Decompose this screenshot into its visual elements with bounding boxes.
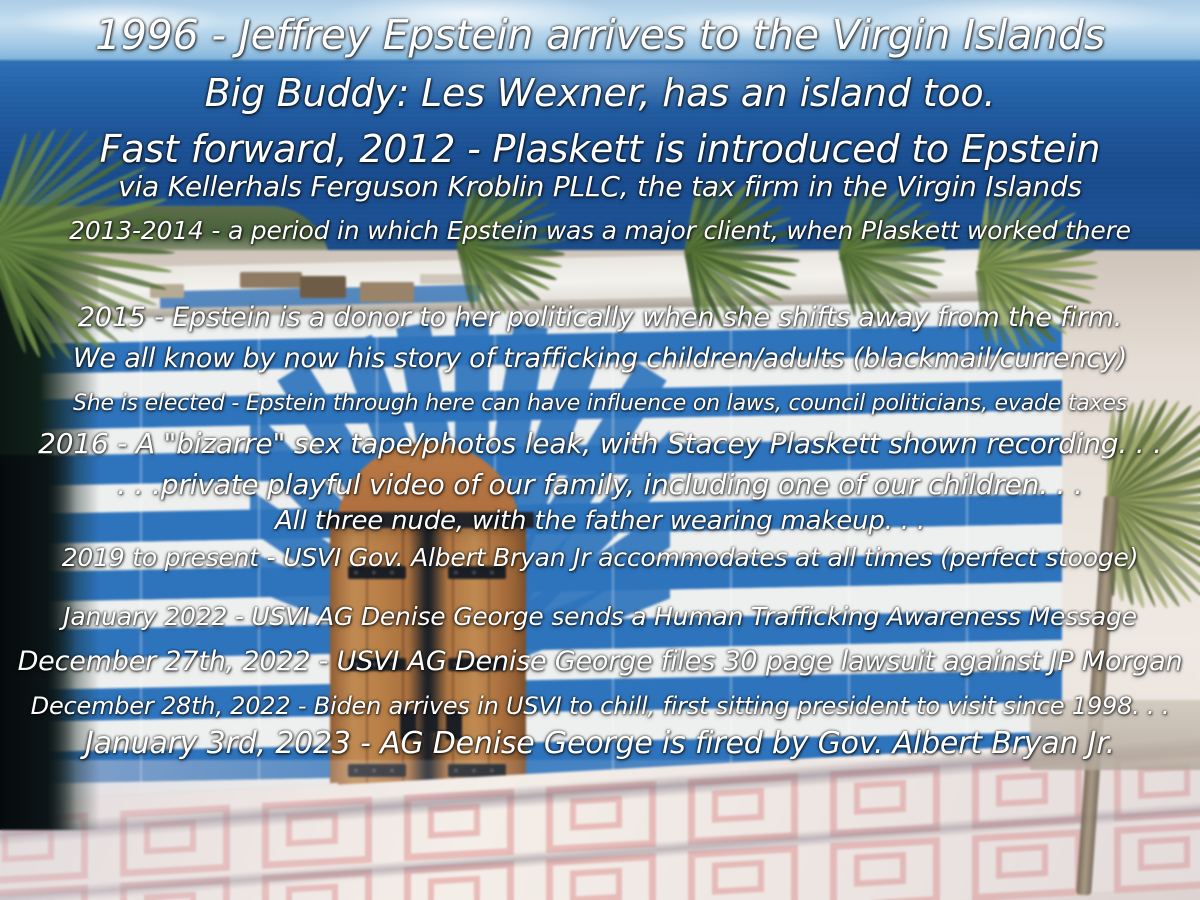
caption-line-16: January 3rd, 2023 - AG Denise George is … — [0, 728, 1200, 760]
caption-line-9: 2016 - A "bizarre" sex tape/photos leak,… — [0, 429, 1200, 458]
image-canvas: 1996 - Jeffrey Epstein arrives to the Vi… — [0, 0, 1200, 900]
caption-line-14: December 27th, 2022 - USVI AG Denise Geo… — [0, 648, 1200, 676]
caption-line-8: She is elected - Epstein through here ca… — [0, 392, 1200, 415]
caption-line-11: All three nude, with the father wearing … — [0, 508, 1200, 535]
caption-line-7: We all know by now his story of traffick… — [0, 345, 1200, 373]
caption-line-15: December 28th, 2022 - Biden arrives in U… — [0, 694, 1200, 719]
caption-line-10: . . .private playful video of our family… — [0, 470, 1200, 499]
caption-line-1: 1996 - Jeffrey Epstein arrives to the Vi… — [0, 14, 1200, 57]
caption-line-2: Big Buddy: Les Wexner, has an island too… — [0, 74, 1200, 114]
caption-line-12: 2019 to present - USVI Gov. Albert Bryan… — [0, 545, 1200, 571]
caption-line-4: via Kellerhals Ferguson Kroblin PLLC, th… — [0, 172, 1200, 201]
caption-line-6: 2015 - Epstein is a donor to her politic… — [0, 304, 1200, 332]
caption-overlay: 1996 - Jeffrey Epstein arrives to the Vi… — [0, 0, 1200, 900]
caption-line-3: Fast forward, 2012 - Plaskett is introdu… — [0, 130, 1200, 170]
caption-line-5: 2013-2014 - a period in which Epstein wa… — [0, 218, 1200, 244]
caption-line-13: January 2022 - USVI AG Denise George sen… — [0, 604, 1200, 630]
